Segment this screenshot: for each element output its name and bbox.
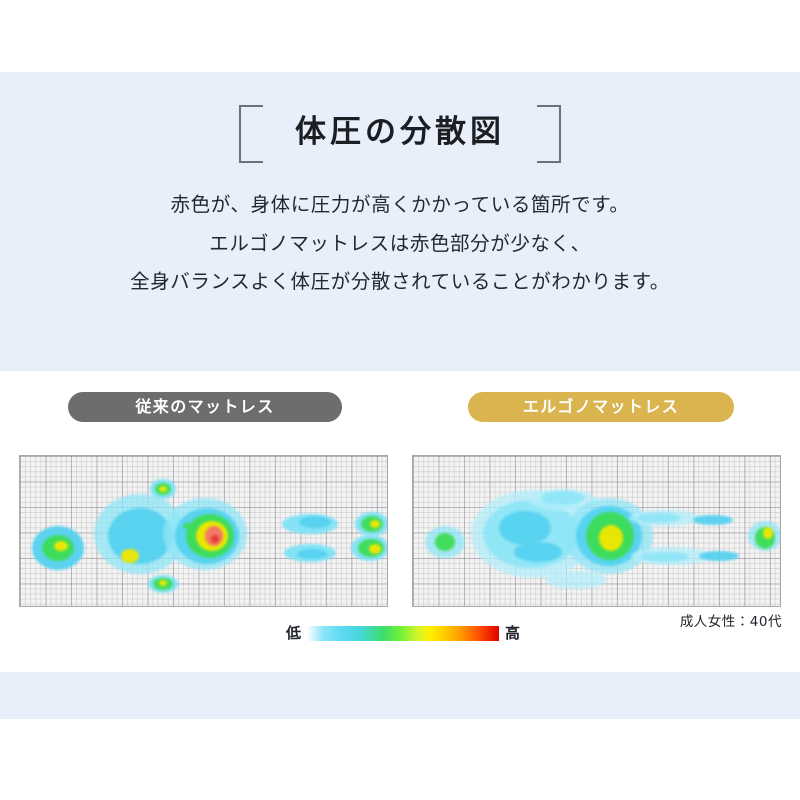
bracket-right-icon bbox=[539, 105, 561, 159]
page-title: 体圧の分散図 bbox=[295, 117, 505, 148]
header-block: 体圧の分散図 赤色が、身体に圧力が高くかかっている箇所です。 エルゴノマットレス… bbox=[0, 100, 800, 302]
pressure-blob bbox=[211, 535, 219, 543]
panel-labels: 従来のマットレス エルゴノマットレス bbox=[0, 392, 800, 422]
bracket-left-icon bbox=[239, 105, 261, 159]
title-row: 体圧の分散図 bbox=[0, 100, 800, 164]
pressure-blob bbox=[599, 525, 623, 551]
color-legend: 低 高 bbox=[0, 626, 800, 648]
heatmap-ergono bbox=[412, 455, 781, 607]
label-ergono-mattress: エルゴノマットレス bbox=[468, 392, 734, 422]
pressure-blob bbox=[369, 544, 381, 554]
heatmap-legacy bbox=[19, 455, 388, 607]
pressure-blob bbox=[297, 549, 327, 559]
pressure-blob bbox=[159, 580, 167, 586]
legend-gradient-bar bbox=[307, 626, 499, 641]
pressure-blob bbox=[546, 571, 606, 589]
comparison-section: 従来のマットレス エルゴノマットレス bbox=[0, 392, 800, 422]
pressure-map-page: 体圧の分散図 赤色が、身体に圧力が高くかかっている箇所です。 エルゴノマットレス… bbox=[0, 0, 800, 800]
pressure-blob bbox=[299, 516, 331, 528]
pressure-blob bbox=[637, 513, 681, 523]
lead-line-3: 全身バランスよく体圧が分散されていることがわかります。 bbox=[0, 263, 800, 302]
pressure-blob bbox=[183, 523, 191, 529]
lead-line-2: エルゴノマットレスは赤色部分が少なく、 bbox=[0, 225, 800, 264]
pressure-blob bbox=[370, 520, 380, 528]
legend-high-label: 高 bbox=[505, 626, 520, 641]
pressure-blobs-legacy bbox=[20, 456, 387, 606]
pressure-blob bbox=[499, 511, 551, 545]
pressure-blobs-ergono bbox=[413, 456, 780, 606]
pressure-blob bbox=[121, 549, 139, 563]
bottom-background-band bbox=[0, 672, 800, 719]
lead-line-1: 赤色が、身体に圧力が高くかかっている箇所です。 bbox=[0, 186, 800, 225]
lead-text: 赤色が、身体に圧力が高くかかっている箇所です。 エルゴノマットレスは赤色部分が少… bbox=[0, 186, 800, 302]
pressure-blob bbox=[541, 491, 585, 505]
pressure-blob bbox=[763, 527, 773, 539]
pressure-blob bbox=[693, 515, 733, 525]
pressure-blob bbox=[435, 533, 455, 551]
pressure-blob bbox=[159, 486, 167, 492]
legend-low-label: 低 bbox=[286, 626, 301, 641]
pressure-blob bbox=[54, 541, 68, 551]
label-legacy-mattress: 従来のマットレス bbox=[68, 392, 342, 422]
pressure-blob bbox=[641, 552, 689, 562]
pressure-blob bbox=[514, 542, 562, 562]
pressure-blob bbox=[699, 551, 739, 561]
heatmap-panels bbox=[0, 455, 800, 607]
